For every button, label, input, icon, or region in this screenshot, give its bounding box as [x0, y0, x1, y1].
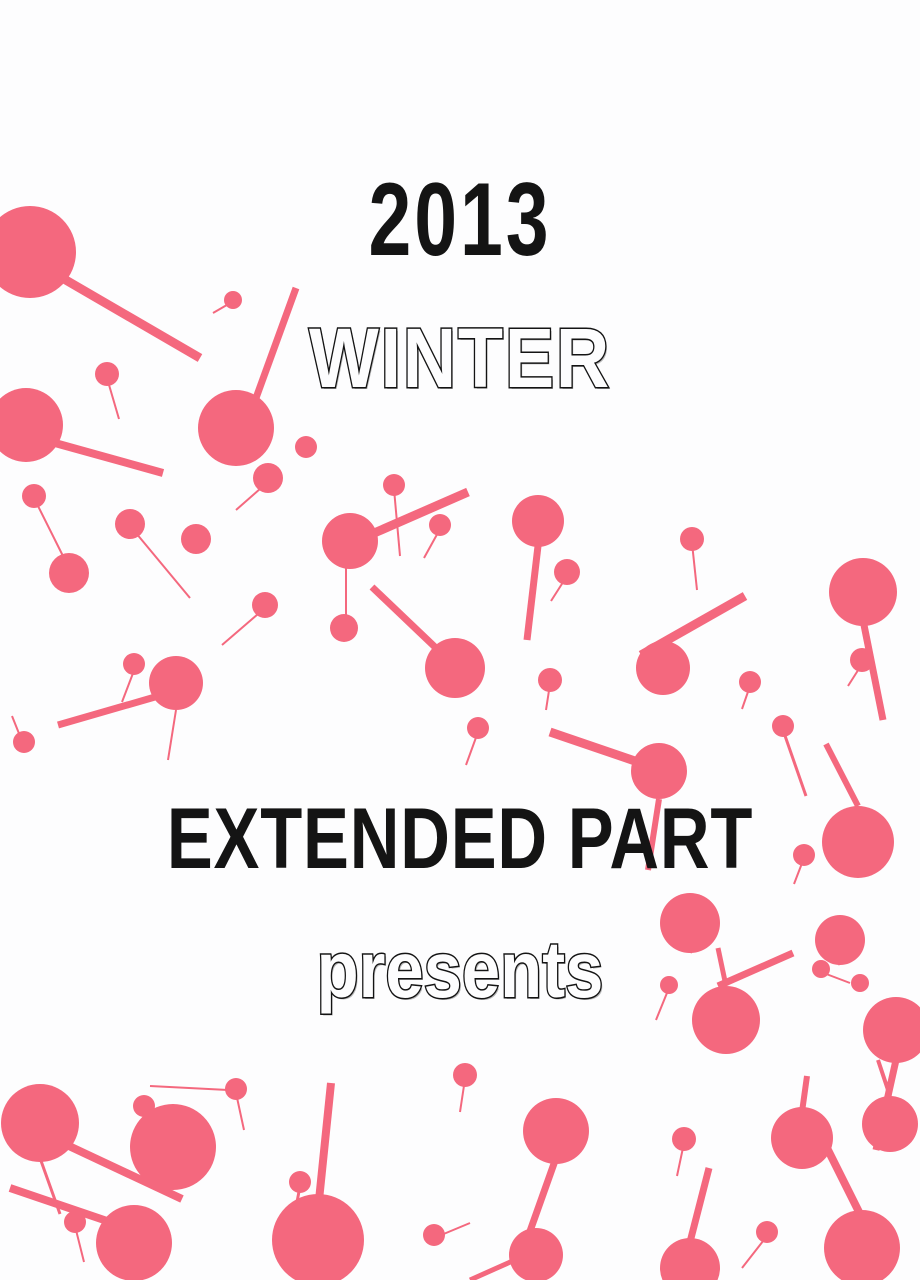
molecule-bond — [826, 744, 858, 806]
molecule-node — [95, 362, 119, 386]
molecule-node — [660, 1238, 720, 1280]
molecule-node — [523, 1098, 589, 1164]
molecule-bond — [718, 948, 726, 986]
molecule-bond — [52, 272, 200, 358]
molecule-bond — [372, 492, 468, 534]
molecule-nodes — [0, 206, 920, 1280]
molecule-node — [772, 715, 794, 737]
molecule-node — [1, 1084, 79, 1162]
molecule-node — [289, 1171, 311, 1193]
molecule-node — [149, 656, 203, 710]
molecule-node — [850, 648, 874, 672]
molecule-node — [509, 1228, 563, 1280]
molecule-bond — [35, 500, 63, 556]
molecule-node — [64, 1211, 86, 1233]
molecule-bond — [718, 953, 793, 986]
molecule-node — [812, 960, 830, 978]
molecule-node — [739, 671, 761, 693]
molecule-bond — [10, 1188, 110, 1222]
molecule-node — [198, 390, 274, 466]
molecule-node — [225, 1078, 247, 1100]
molecule-node — [660, 893, 720, 953]
molecule-node — [636, 641, 690, 695]
molecule-node — [815, 915, 865, 965]
molecule-node — [851, 974, 869, 992]
molecule-bond — [168, 710, 176, 760]
molecule-node — [383, 474, 405, 496]
molecule-bond — [878, 1060, 890, 1096]
molecule-bond — [648, 799, 659, 870]
molecule-node — [660, 976, 678, 994]
molecule-node — [631, 743, 687, 799]
molecule-bond — [783, 730, 806, 796]
molecule-node — [0, 388, 63, 462]
molecule-node — [425, 638, 485, 698]
molecule-node — [538, 668, 562, 692]
molecule-node — [13, 731, 35, 753]
cover-page: 2013 WINTER EXTENDED PART presents — [0, 0, 920, 1280]
molecule-bond — [550, 732, 638, 762]
molecule-node — [115, 509, 145, 539]
molecule-bond — [55, 443, 163, 473]
molecule-node — [512, 495, 564, 547]
molecule-node — [771, 1107, 833, 1169]
molecule-node — [123, 653, 145, 675]
molecule-node — [96, 1205, 172, 1280]
molecule-bond — [826, 1146, 862, 1218]
molecule-node — [224, 291, 242, 309]
molecule-node — [322, 513, 378, 569]
molecule-node — [453, 1063, 477, 1087]
molecule-node — [22, 484, 46, 508]
molecule-node — [330, 614, 358, 642]
molecule-node — [680, 527, 704, 551]
molecule-bond — [802, 1076, 807, 1112]
molecule-node — [295, 436, 317, 458]
molecule-node — [272, 1194, 364, 1280]
molecule-bond — [690, 1168, 709, 1242]
molecule-node — [252, 592, 278, 618]
molecule-bond — [58, 697, 155, 725]
molecule-node — [429, 514, 451, 536]
molecule-node — [793, 844, 815, 866]
molecule-node — [692, 986, 760, 1054]
molecule-node — [130, 1104, 216, 1190]
molecule-node — [423, 1224, 445, 1246]
molecule-node — [756, 1221, 778, 1243]
molecule-bond — [150, 1086, 228, 1090]
molecule-node — [554, 559, 580, 585]
molecule-bond — [318, 1083, 331, 1210]
molecule-node — [822, 806, 894, 878]
molecule-node — [253, 463, 283, 493]
molecule-node — [829, 558, 897, 626]
molecule-node — [181, 524, 211, 554]
molecule-node — [863, 997, 920, 1063]
molecule-pattern-artwork — [0, 0, 920, 1280]
molecule-node — [672, 1127, 696, 1151]
molecule-bond — [372, 587, 436, 648]
molecule-node — [49, 553, 89, 593]
molecule-node — [467, 717, 489, 739]
molecule-node — [824, 1210, 900, 1280]
molecule-node — [862, 1096, 918, 1152]
molecule-bond — [527, 546, 538, 640]
